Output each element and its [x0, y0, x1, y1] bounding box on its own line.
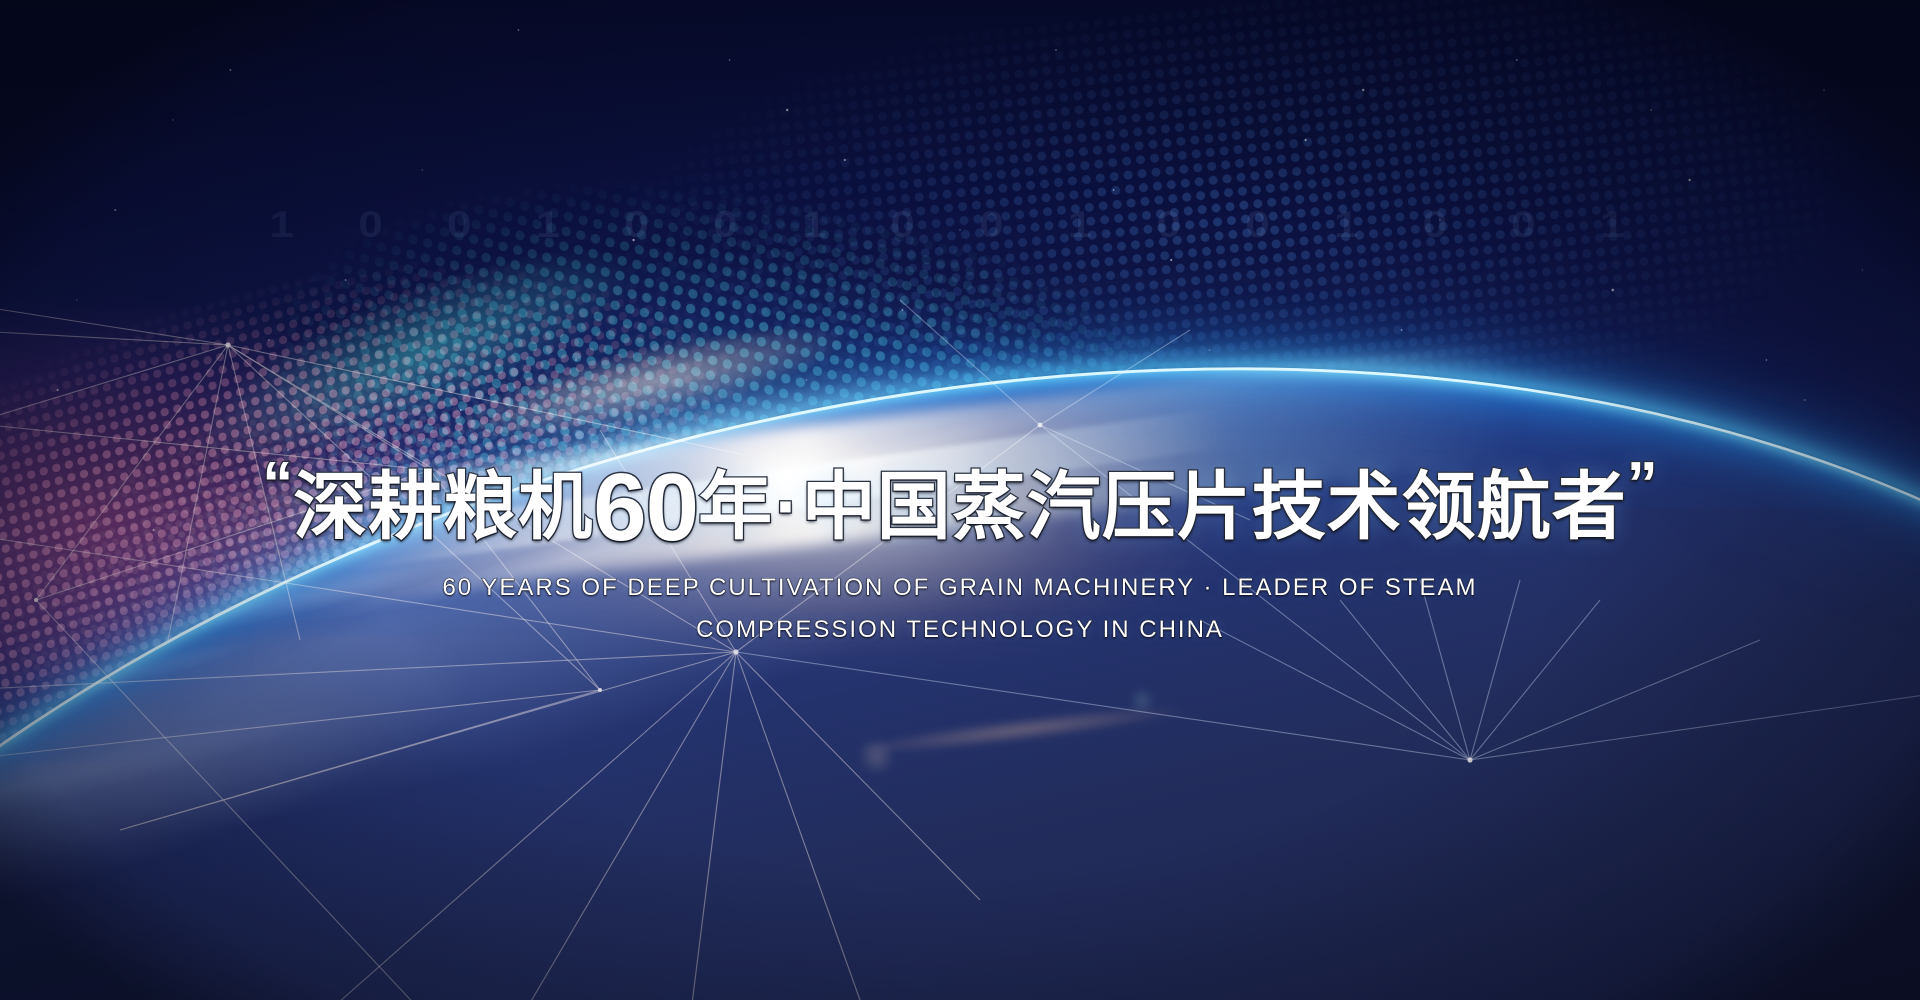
lens-flare	[751, 609, 1289, 851]
promotional-banner: 1 0 0 1 0 0 1 0 0 1 0 0 1 0 0 1	[0, 0, 1920, 1000]
tan-light-ribbon-lower	[587, 614, 1292, 936]
title-segment-1: 深耕粮机	[293, 465, 593, 548]
title-segment-3: 中国蒸汽压片技术领航者	[802, 465, 1627, 548]
banner-text-block: “深耕粮机60年·中国蒸汽压片技术领航者” 60 YEARS OF DEEP C…	[0, 452, 1920, 644]
binary-digit-strip: 1 0 0 1 0 0 1 0 0 1 0 0 1 0 0 1	[0, 200, 1920, 251]
title-number-60: 60	[593, 454, 698, 561]
title-separator-dot: ·	[773, 465, 802, 548]
open-quote-mark: “	[262, 450, 293, 519]
subtitle-line-1: 60 YEARS OF DEEP CULTIVATION OF GRAIN MA…	[0, 574, 1920, 602]
network-edges	[0, 300, 1920, 1000]
subtitle-line-2: COMPRESSION TECHNOLOGY IN CHINA	[0, 616, 1920, 644]
title-segment-2: 年	[698, 465, 773, 548]
close-quote-mark: ”	[1627, 450, 1658, 519]
main-title: “深耕粮机60年·中国蒸汽压片技术领航者”	[0, 452, 1920, 548]
